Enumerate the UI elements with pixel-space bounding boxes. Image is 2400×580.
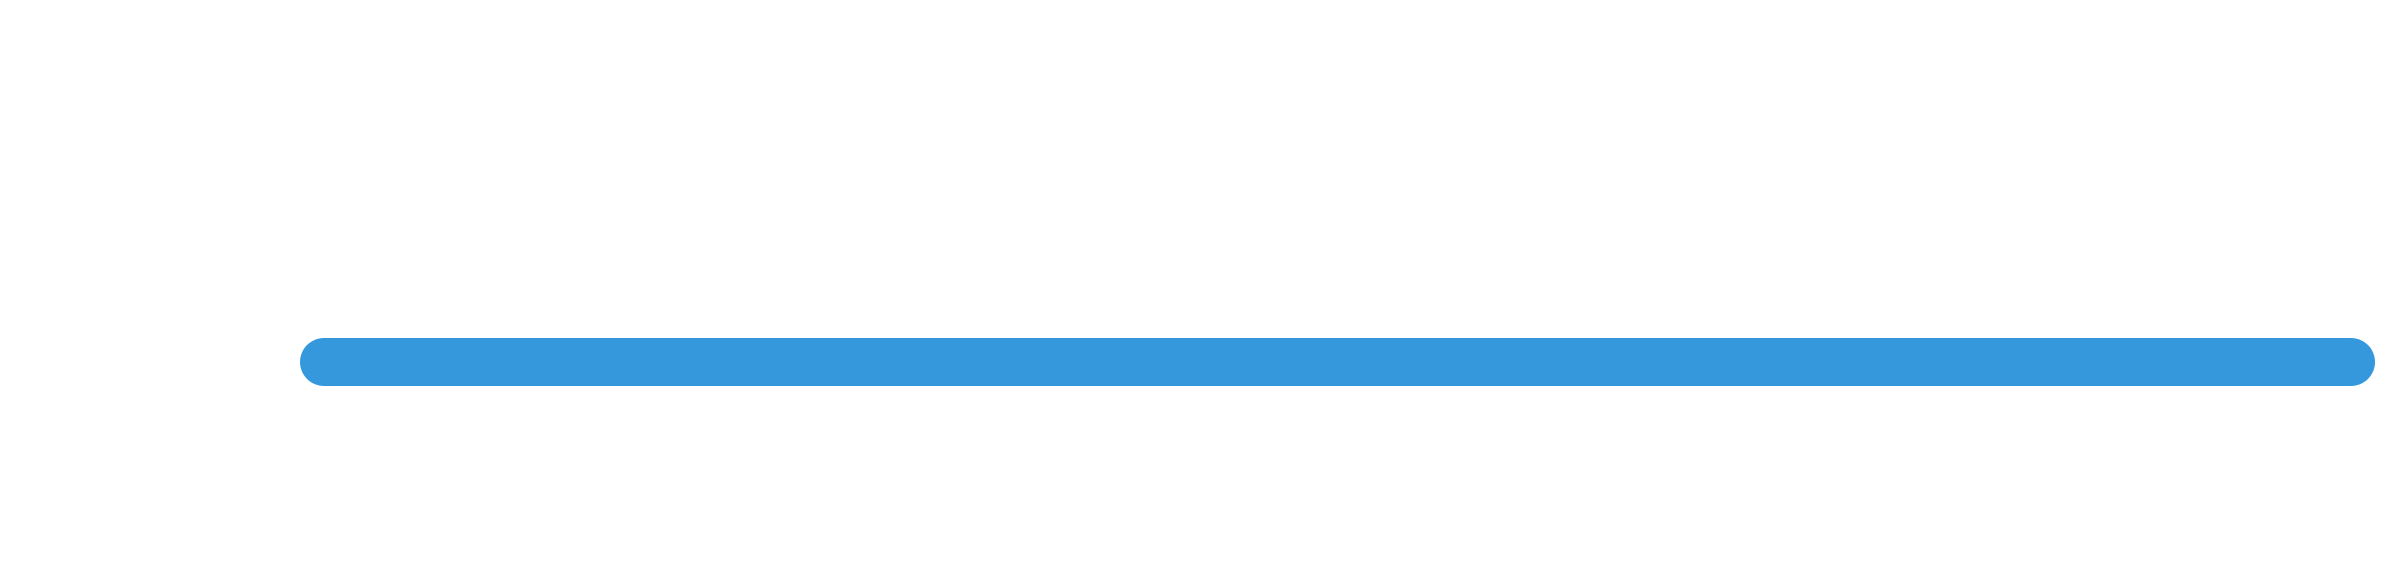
species-header-row — [300, 30, 2375, 330]
phylostratum-progress-bar[interactable] — [300, 338, 2375, 386]
phylostratigraphy-timeline — [0, 0, 2400, 580]
progress-track — [300, 338, 2375, 386]
rank-label-row — [300, 392, 2375, 580]
